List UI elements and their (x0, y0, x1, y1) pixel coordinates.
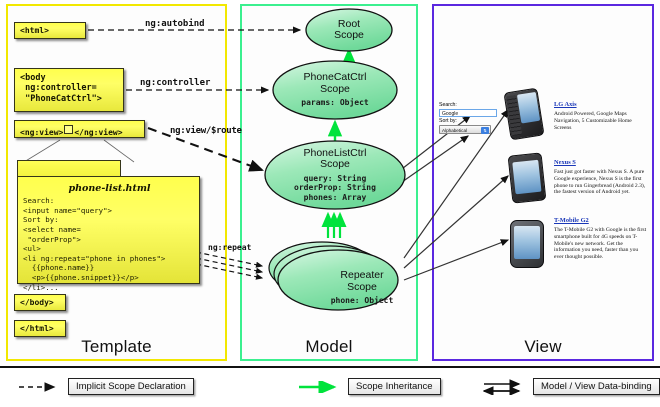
code-tag-html-close: </html> (14, 320, 66, 337)
phone-entry-1: LG Axis Android Powered, Google Maps Nav… (554, 100, 648, 131)
scope-phonecatctrl-shape (272, 60, 398, 120)
phone-snippet-3: The T-Mobile G2 with Google is the first… (554, 227, 648, 261)
dashed-arrow-icon (18, 381, 62, 393)
legend-item-scope-inheritance: Scope Inheritance (298, 377, 441, 396)
legend-label-scope-inheritance: Scope Inheritance (348, 378, 441, 395)
snippet-phone-list: phone-list.html Search: <input name="que… (17, 160, 200, 284)
wire-ng-repeat-3 (196, 264, 262, 278)
label-ng-repeat: ng:repeat (208, 243, 251, 252)
legend-label-implicit-scope: Implicit Scope Declaration (68, 378, 194, 395)
double-arrow-icon (483, 379, 527, 395)
phone-link-2[interactable]: Nexus S (554, 158, 648, 167)
phone-snippet-2: Fast just got faster with Nexus S. A pur… (554, 169, 648, 196)
snippet-code: Search: <input name="query"> Sort by: <s… (23, 196, 196, 292)
callout-right (104, 140, 134, 162)
phone-entry-3: T-Mobile G2 The T-Mobile G2 with Google … (554, 216, 648, 261)
search-input[interactable]: Google (439, 109, 497, 117)
phone-link-3[interactable]: T-Mobile G2 (554, 216, 648, 225)
ng-view-close: </ng:view> (74, 128, 122, 137)
sort-label: Sort by: (439, 118, 505, 125)
phone-snippet-1: Android Powered, Google Maps Navigation,… (554, 111, 648, 131)
browser-viewport: Search: Google Sort by: Alphabetical ⇅ L… (436, 8, 650, 290)
wire-ng-repeat-2 (196, 258, 262, 272)
callout-left (24, 140, 60, 162)
phone-entry-2: Nexus S Fast just got faster with Nexus … (554, 158, 648, 196)
solid-arrow-icon (298, 381, 342, 393)
phone-3-screen (514, 226, 540, 259)
scope-repeater: RepeaterScope phone: Object (264, 236, 404, 312)
scope-root: RootScope (305, 8, 393, 52)
phone-thumbnail-3 (510, 220, 544, 268)
sort-select[interactable]: Alphabetical ⇅ (439, 125, 491, 134)
diagram-canvas: Template Model View (0, 0, 660, 405)
label-ng-view-route: ng:view/$route (170, 126, 242, 136)
code-tag-body: <body ng:controller= "PhoneCatCtrl"> (14, 68, 124, 112)
placeholder-square-icon (64, 125, 73, 134)
search-label: Search: (439, 102, 505, 109)
code-tag-ng-view: <ng:view></ng:view> (14, 120, 145, 138)
snippet-title: phone-list.html (23, 181, 196, 196)
sort-select-value: Alphabetical (442, 128, 467, 133)
search-form: Search: Google Sort by: Alphabetical ⇅ (439, 102, 505, 134)
scope-phonecatctrl: PhoneCatCtrlScope params: Object (272, 60, 398, 120)
scope-root-shape (305, 8, 393, 52)
legend-label-data-binding: Model / View Data-binding (533, 378, 660, 395)
wire-ng-repeat-1 (196, 252, 262, 266)
code-tag-body-close: </body> (14, 294, 66, 311)
code-tag-html: <html> (14, 22, 86, 39)
phone-thumbnail-2 (508, 152, 547, 203)
scope-repeater-shape (264, 236, 404, 312)
phone-link-1[interactable]: LG Axis (554, 100, 648, 109)
phone-thumbnail-1 (503, 88, 544, 141)
label-ng-controller: ng:controller (140, 78, 210, 88)
legend: Implicit Scope Declaration Scope Inherit… (0, 366, 660, 407)
chevron-down-icon: ⇅ (481, 127, 489, 134)
snippet-tab (17, 160, 121, 177)
snippet-body: phone-list.html Search: <input name="que… (17, 176, 200, 284)
phone-2-screen (512, 160, 541, 195)
label-ng-autobind: ng:autobind (145, 19, 205, 29)
legend-item-data-binding: Model / View Data-binding (483, 377, 660, 396)
ng-view-open: <ng:view> (20, 128, 63, 137)
scope-phonelistctrl: PhoneListCtrlScope query: StringorderPro… (264, 140, 406, 210)
legend-item-implicit-scope: Implicit Scope Declaration (18, 377, 194, 396)
scope-phonelistctrl-shape (264, 140, 406, 210)
